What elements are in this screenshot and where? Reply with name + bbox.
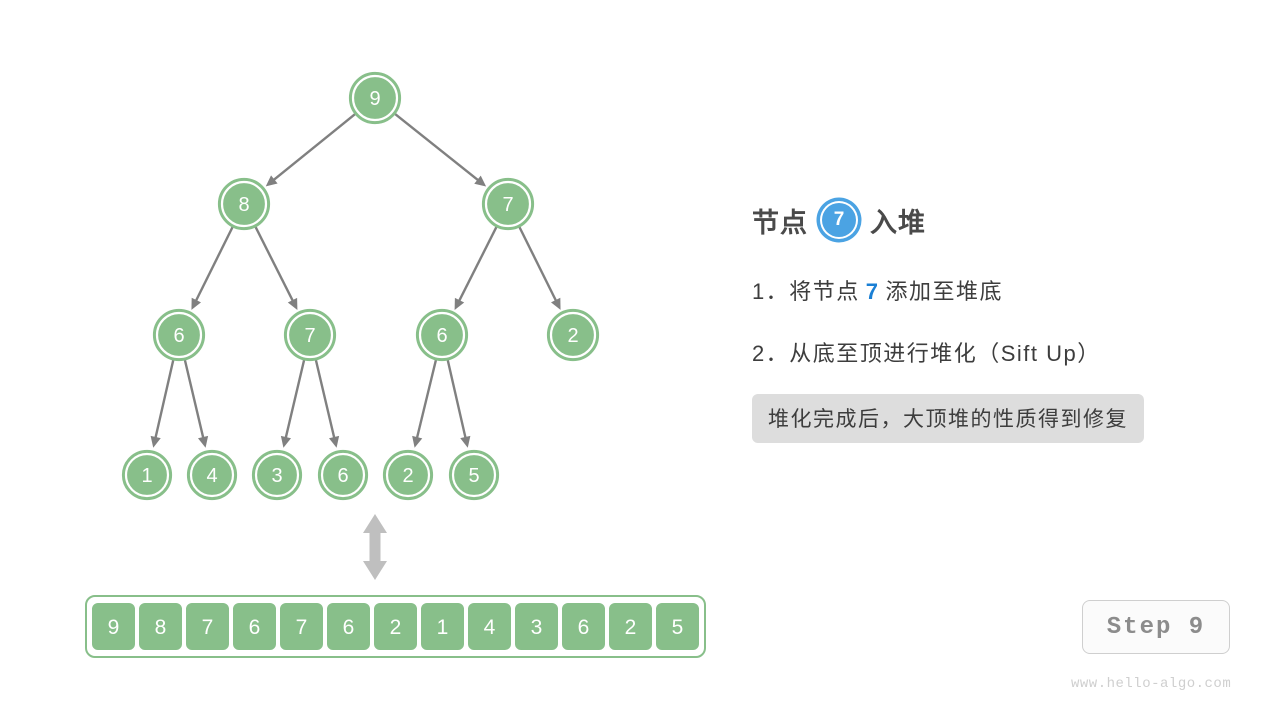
array-cell-value: 3 bbox=[531, 616, 543, 639]
panel-title-suffix: 入堆 bbox=[870, 201, 926, 240]
step-line-2: 2．从底至顶进行堆化（Sift Up） bbox=[752, 336, 1252, 368]
explanation-panel: 节点 7 入堆 1．将节点7添加至堆底 2．从底至顶进行堆化（Sift Up） … bbox=[752, 196, 1252, 443]
array-representation: 9876762143625 bbox=[86, 596, 705, 657]
array-cell: 3 bbox=[514, 602, 559, 651]
step-line-1: 1．将节点7添加至堆底 bbox=[752, 274, 1252, 306]
array-cell: 9 bbox=[91, 602, 136, 651]
array-cell: 1 bbox=[420, 602, 465, 651]
tree-edges-layer bbox=[151, 113, 561, 448]
array-cell-value: 6 bbox=[249, 616, 261, 639]
tree-node-value: 6 bbox=[173, 325, 184, 347]
array-cell: 8 bbox=[138, 602, 183, 651]
tree-node-value: 3 bbox=[271, 465, 282, 487]
tree-node-value: 7 bbox=[304, 325, 315, 347]
array-cell-value: 2 bbox=[625, 616, 637, 639]
edge-arrowhead bbox=[151, 436, 161, 448]
step-1-tail: 添加至堆底 bbox=[886, 279, 1004, 304]
array-cell-value: 2 bbox=[390, 616, 402, 639]
tree-node-value: 9 bbox=[369, 88, 380, 110]
array-cell: 2 bbox=[373, 602, 418, 651]
tree-node: 4 bbox=[188, 451, 237, 500]
double-arrow-up-down-icon bbox=[363, 514, 387, 580]
array-cell-value: 8 bbox=[155, 616, 167, 639]
edge-arrowhead bbox=[198, 436, 208, 448]
tree-node: 6 bbox=[319, 451, 368, 500]
array-cell: 4 bbox=[467, 602, 512, 651]
tree-edge bbox=[447, 358, 470, 447]
array-cell-value: 7 bbox=[296, 616, 308, 639]
panel-title-prefix: 节点 bbox=[752, 201, 808, 240]
tree-edge bbox=[281, 358, 305, 447]
watermark: www.hello-algo.com bbox=[1071, 676, 1231, 692]
tree-node: 9 bbox=[350, 73, 401, 124]
tree-array-link-arrow bbox=[363, 514, 387, 580]
array-cell-value: 1 bbox=[437, 616, 449, 639]
array-cell: 6 bbox=[232, 602, 277, 651]
array-cell: 6 bbox=[326, 602, 371, 651]
tree-node-value: 2 bbox=[567, 325, 578, 347]
tree-node: 5 bbox=[450, 451, 499, 500]
tree-edge bbox=[316, 358, 340, 447]
array-cell-value: 4 bbox=[484, 616, 496, 639]
array-cell-value: 7 bbox=[202, 616, 214, 639]
tree-node: 6 bbox=[417, 310, 468, 361]
tree-node-value: 2 bbox=[402, 465, 413, 487]
tree-node: 7 bbox=[483, 179, 534, 230]
result-note: 堆化完成后，大顶堆的性质得到修复 bbox=[752, 394, 1144, 443]
array-cell-value: 5 bbox=[672, 616, 684, 639]
tree-node: 8 bbox=[219, 179, 270, 230]
tree-edge bbox=[185, 358, 209, 447]
tree-node: 7 bbox=[285, 310, 336, 361]
tree-node-value: 8 bbox=[238, 194, 249, 216]
tree-node-value: 5 bbox=[468, 465, 479, 487]
tree-edge bbox=[266, 113, 357, 186]
tree-node-value: 6 bbox=[337, 465, 348, 487]
tree-node: 2 bbox=[384, 451, 433, 500]
step-badge: Step 9 bbox=[1082, 600, 1230, 654]
step-2-text: 2．从底至顶进行堆化（Sift Up） bbox=[752, 341, 1101, 366]
step-1-highlight-value: 7 bbox=[860, 279, 886, 304]
tree-edge bbox=[151, 358, 174, 447]
tree-edge bbox=[255, 225, 298, 310]
array-cell-value: 9 bbox=[108, 616, 120, 639]
tree-node-value: 6 bbox=[436, 325, 447, 347]
tree-node: 2 bbox=[548, 310, 599, 361]
edge-arrowhead bbox=[460, 436, 470, 448]
edge-arrowhead bbox=[281, 436, 291, 448]
tree-edge bbox=[455, 225, 498, 310]
array-cell: 6 bbox=[561, 602, 606, 651]
array-cell-value: 6 bbox=[578, 616, 590, 639]
panel-title: 节点 7 入堆 bbox=[752, 196, 1252, 244]
tree-node: 6 bbox=[154, 310, 205, 361]
tree-nodes-layer: 9876762143625 bbox=[123, 73, 599, 500]
array-cell: 7 bbox=[185, 602, 230, 651]
tree-edge bbox=[519, 225, 561, 309]
edge-arrowhead bbox=[329, 436, 339, 448]
tree-node-value: 1 bbox=[141, 465, 152, 487]
tree-edge bbox=[394, 113, 486, 187]
array-cell: 5 bbox=[655, 602, 700, 651]
edge-arrowhead bbox=[412, 436, 422, 448]
panel-title-node-badge: 7 bbox=[820, 201, 858, 239]
tree-node-value: 4 bbox=[206, 465, 217, 487]
tree-node: 1 bbox=[123, 451, 172, 500]
tree-edge bbox=[191, 225, 233, 309]
array-cell: 2 bbox=[608, 602, 653, 651]
array-cell-value: 6 bbox=[343, 616, 355, 639]
tree-node-value: 7 bbox=[502, 194, 513, 216]
tree-edge bbox=[412, 358, 436, 447]
step-1-text: 1．将节点 bbox=[752, 279, 860, 304]
array-cell: 7 bbox=[279, 602, 324, 651]
tree-node: 3 bbox=[253, 451, 302, 500]
